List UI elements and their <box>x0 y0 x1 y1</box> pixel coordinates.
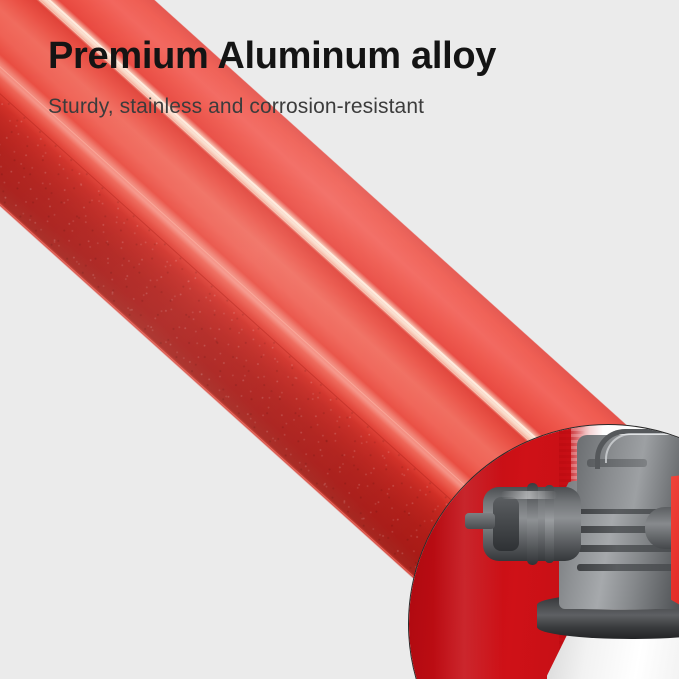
spray-gun-detail-circle <box>408 424 679 679</box>
product-feature-image: Premium Aluminum alloy Sturdy, stainless… <box>0 0 679 679</box>
page-subtitle: Sturdy, stainless and corrosion-resistan… <box>48 94 496 119</box>
paint-spray-gun <box>409 425 679 679</box>
headline-block: Premium Aluminum alloy Sturdy, stainless… <box>48 36 496 119</box>
spray-nozzle-highlight <box>501 491 557 499</box>
housing-arc-highlight <box>605 433 679 463</box>
spray-nozzle-face <box>493 497 519 551</box>
page-title: Premium Aluminum alloy <box>48 36 496 78</box>
grip-rib-4 <box>577 564 677 571</box>
spray-nozzle-tip <box>465 513 495 529</box>
